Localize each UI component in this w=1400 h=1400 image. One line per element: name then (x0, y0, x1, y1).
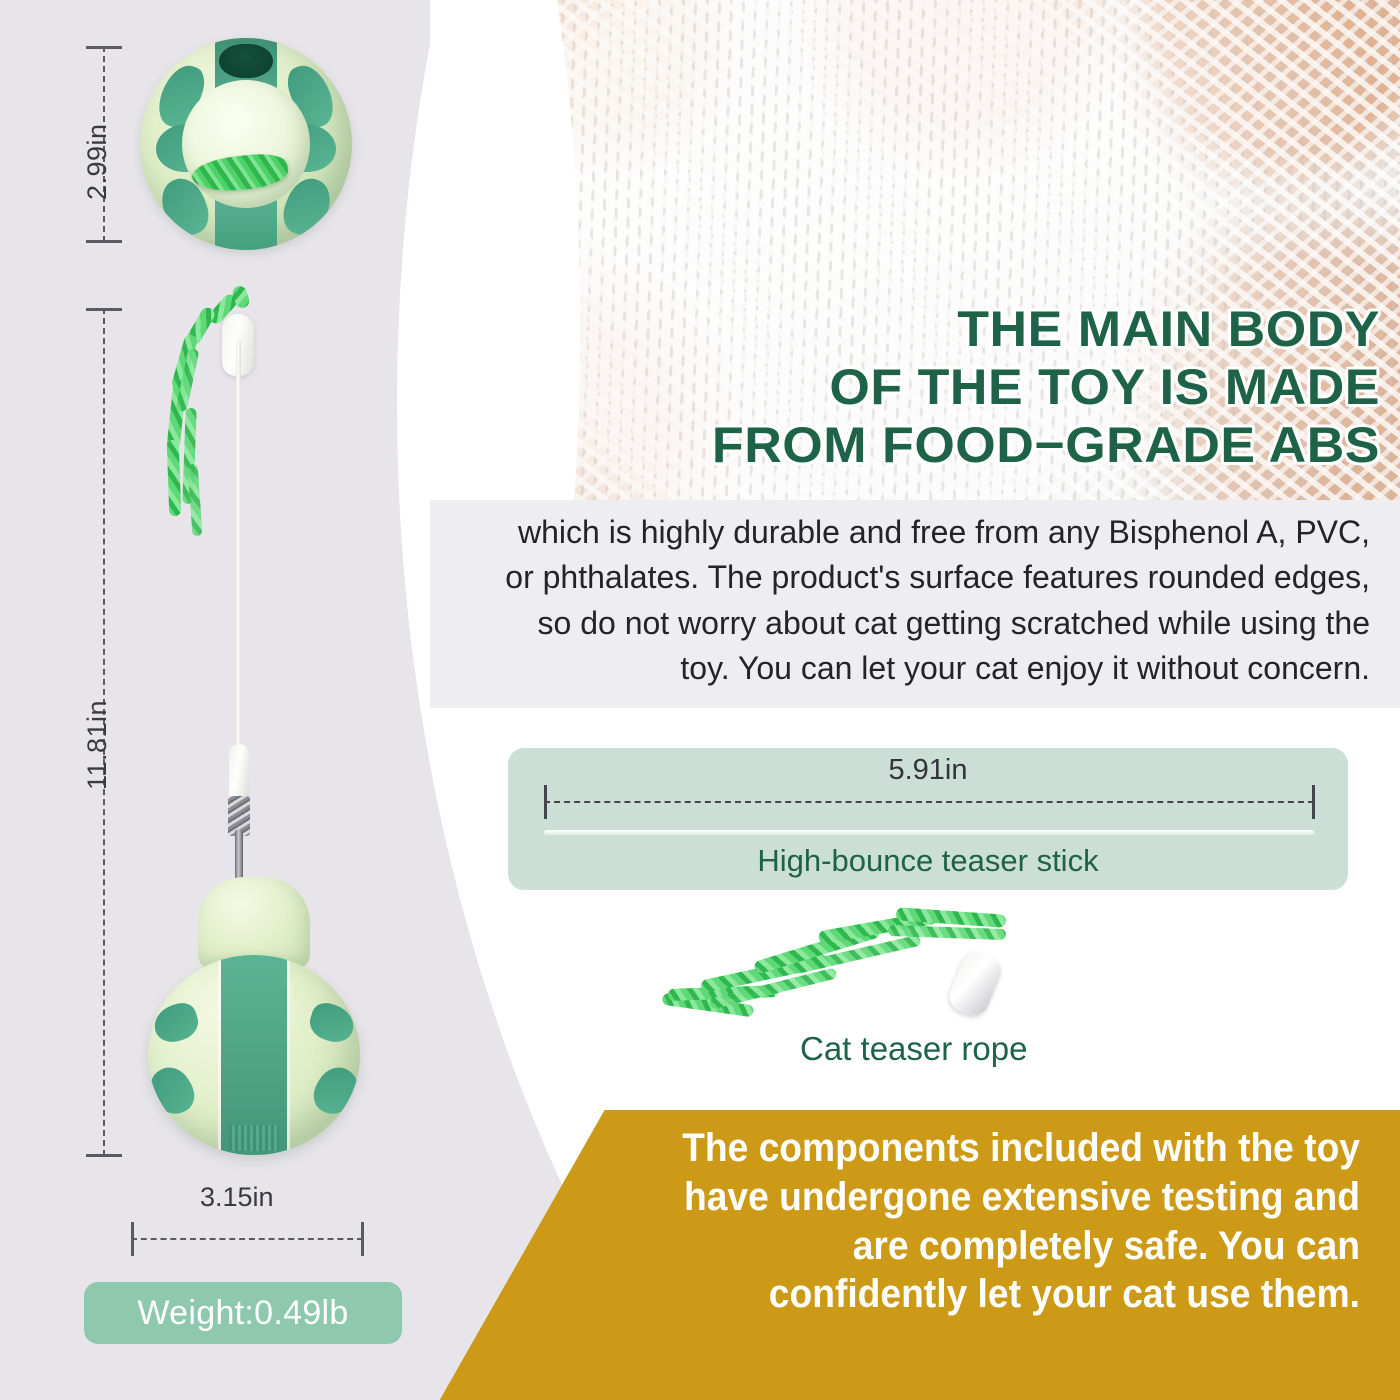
body-text-panel: which is highly durable and free from an… (430, 500, 1400, 708)
headline: THE MAIN BODY OF THE TOY IS MADE FROM FO… (434, 300, 1380, 474)
rope-plastic-tip (945, 948, 1005, 1020)
headline-line-2: OF THE TOY IS MADE (434, 358, 1380, 416)
headline-line-3: FROM FOOD−GRADE ABS (434, 416, 1380, 474)
headline-line-1: THE MAIN BODY (434, 300, 1380, 358)
stick-measurement-card: 5.91in High-bounce teaser stick (508, 748, 1348, 890)
cat-teaser-rope-illustration (660, 905, 1060, 1025)
body-paragraph: which is highly durable and free from an… (490, 510, 1370, 692)
rope-caption: Cat teaser rope (800, 1030, 1027, 1068)
stick-illustration (544, 830, 1314, 835)
stick-dimension-label: 5.91in (508, 754, 1348, 787)
stick-dim-cap-right (1312, 785, 1315, 819)
stick-caption: High-bounce teaser stick (508, 843, 1348, 879)
stick-dimension-line (544, 801, 1314, 803)
infographic-canvas: 2.99in 11.81in (0, 0, 1400, 1400)
safety-banner-text: The components included with the toy hav… (653, 1124, 1360, 1319)
right-content-panel: THE MAIN BODY OF THE TOY IS MADE FROM FO… (0, 0, 1400, 1400)
